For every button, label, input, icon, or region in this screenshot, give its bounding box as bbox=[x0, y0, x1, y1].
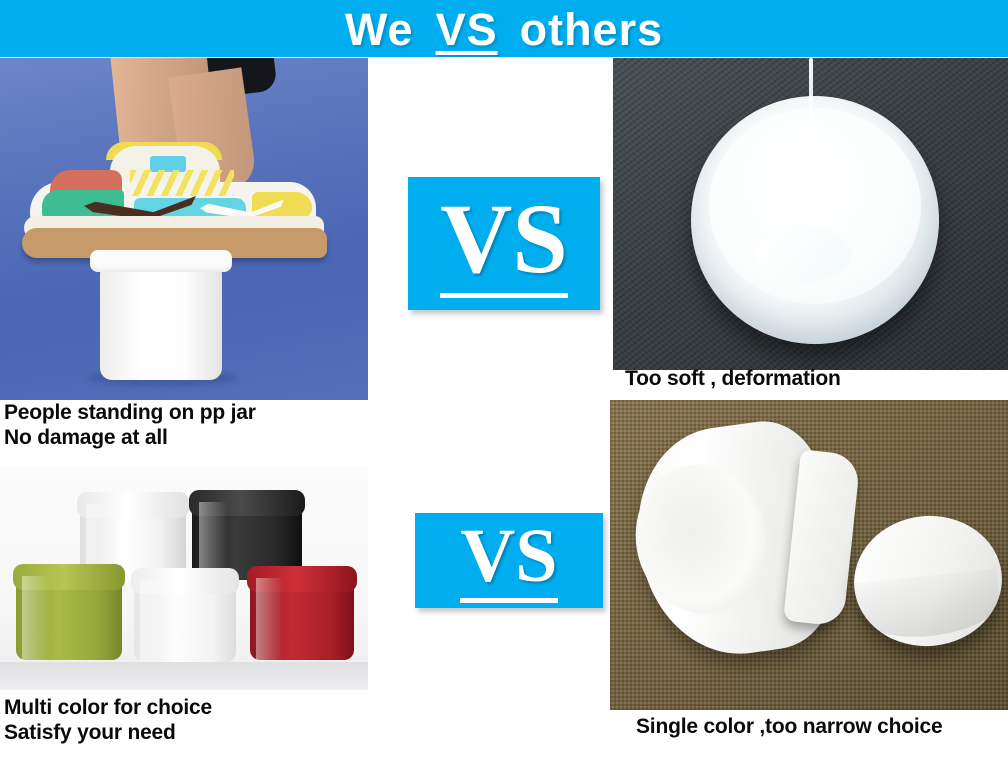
infographic-canvas: We VS others People bbox=[0, 0, 1008, 757]
white-pp-jar-under-foot bbox=[94, 250, 228, 378]
jar-body bbox=[100, 268, 222, 380]
vs-badge-top: VS bbox=[408, 177, 600, 310]
cream-gloss-highlight bbox=[755, 226, 851, 282]
photo-single-white-jar-on-burlap bbox=[610, 400, 1008, 710]
caption-multi-color-for-choice: Multi color for choice Satisfy your need bbox=[4, 696, 212, 746]
jar-red-highlight bbox=[256, 578, 283, 660]
jar-rim bbox=[90, 250, 232, 272]
jar-green-highlight bbox=[22, 576, 50, 660]
header-others-label: others bbox=[520, 7, 664, 52]
caption-single-color-too-narrow-choice: Single color ,too narrow choice bbox=[636, 715, 943, 740]
vs-badge-bottom-label: VS bbox=[460, 518, 557, 603]
jar-group-floor-reflection bbox=[0, 662, 368, 690]
jar-frosted-white bbox=[134, 580, 236, 662]
photo-foot-standing-on-pp-jar bbox=[0, 58, 368, 400]
caption-people-standing-on-pp-jar: People standing on pp jar No damage at a… bbox=[4, 401, 256, 451]
jar-green bbox=[16, 576, 122, 660]
sneaker-laces bbox=[130, 170, 234, 196]
header-we-label: We bbox=[345, 7, 414, 52]
cream-pour-stream bbox=[809, 58, 813, 190]
sneaker-shape bbox=[22, 168, 327, 260]
jar-red bbox=[250, 578, 354, 660]
header-banner: We VS others bbox=[0, 0, 1008, 57]
caption-too-soft-deformation: Too soft , deformation bbox=[625, 367, 841, 392]
vs-badge-bottom: VS bbox=[415, 513, 603, 608]
sneaker-toe-panel bbox=[252, 192, 312, 218]
photo-multi-color-jars bbox=[0, 466, 368, 690]
header-vs-label: VS bbox=[436, 7, 498, 52]
photo-soft-jar-with-cream bbox=[613, 58, 1008, 370]
page-title: We VS others bbox=[345, 7, 663, 52]
jar-frosted-highlight bbox=[140, 580, 167, 662]
vs-badge-top-label: VS bbox=[440, 189, 568, 298]
